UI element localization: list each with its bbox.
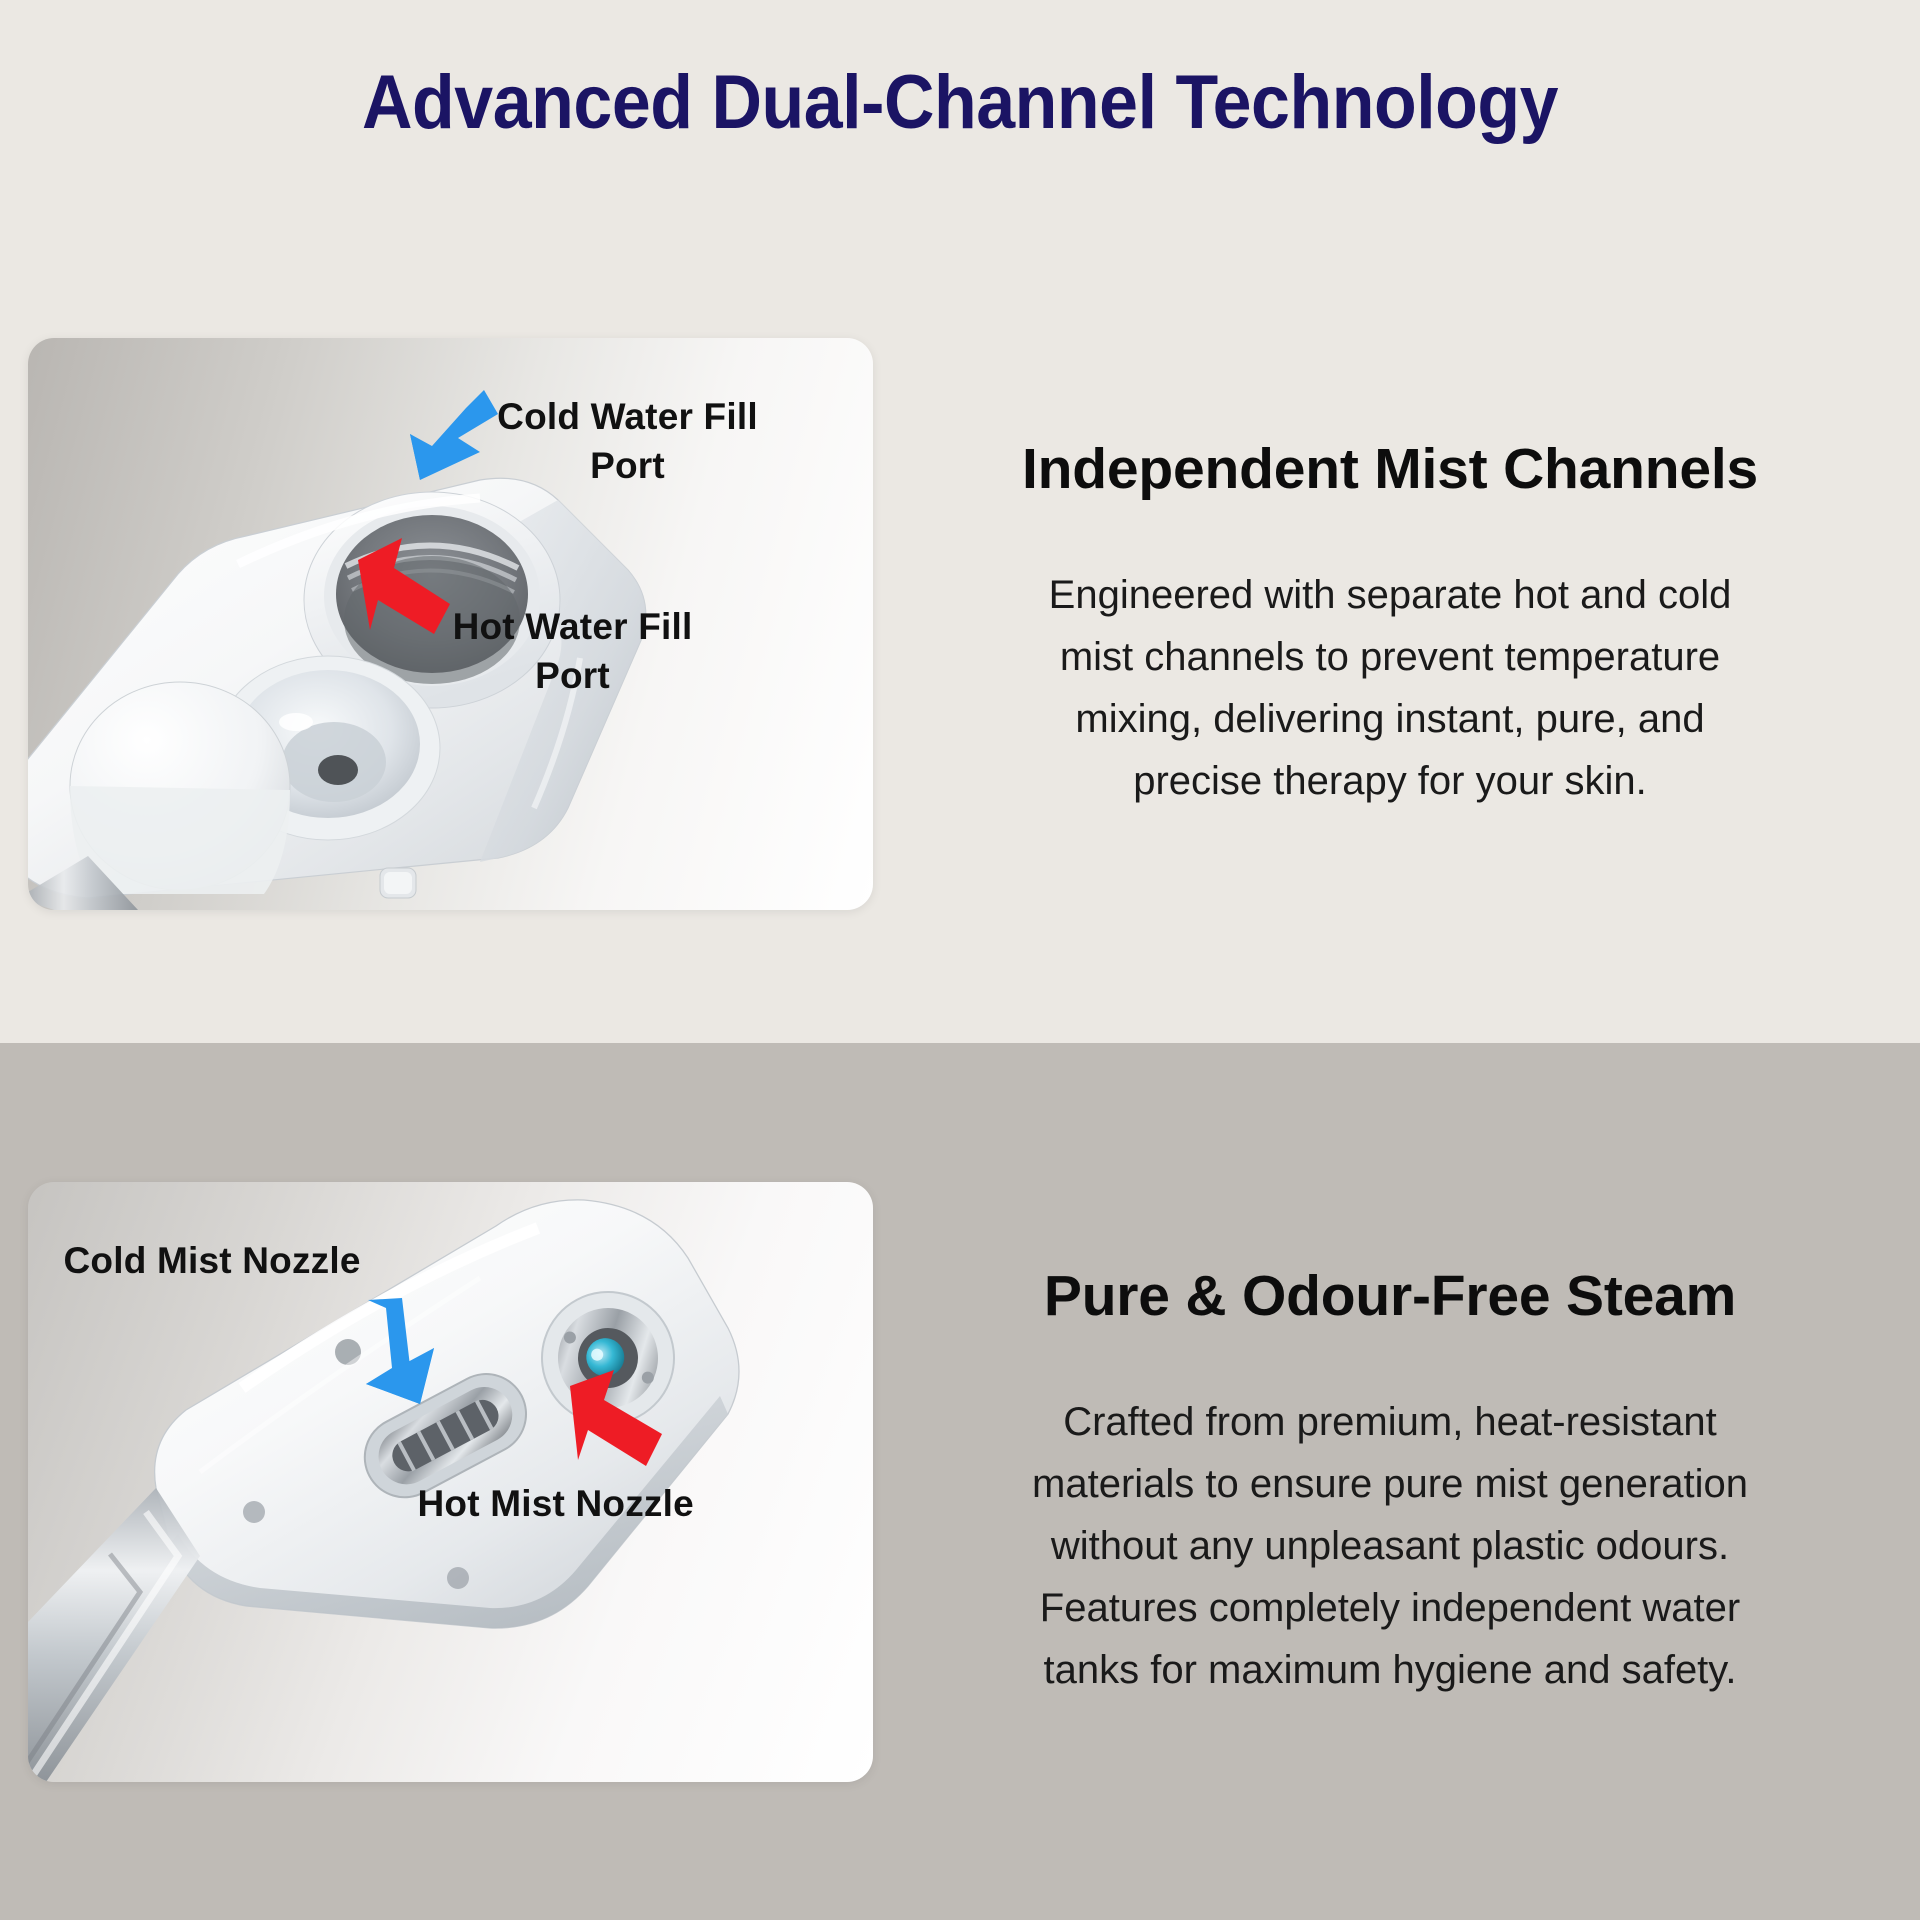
callout-hot-mist-nozzle: Hot Mist Nozzle [418, 1480, 748, 1529]
red-arrow-up-left-icon [556, 1368, 676, 1478]
feature-body-1: Engineered with separate hot and cold mi… [1030, 564, 1750, 812]
infographic-page: Advanced Dual-Channel Technology [0, 0, 1920, 1920]
photo-column-1: Cold Water Fill Port Hot Water Fill Port [0, 205, 900, 1043]
title-bar: Advanced Dual-Channel Technology [0, 0, 1920, 205]
feature-heading-1: Independent Mist Channels [1022, 436, 1758, 502]
text-column-1: Independent Mist Channels Engineered wit… [900, 205, 1920, 1043]
product-photo-steamer-wand-nozzles: Cold Mist Nozzle Hot Mist Nozzle [28, 1182, 873, 1782]
callout-cold-mist-nozzle: Cold Mist Nozzle [64, 1237, 394, 1286]
callout-hot-water-fill-port: Hot Water Fill Port [428, 603, 718, 701]
product-photo-steamer-top-fill-ports: Cold Water Fill Port Hot Water Fill Port [28, 338, 873, 910]
text-column-2: Pure & Odour-Free Steam Crafted from pre… [900, 1043, 1920, 1920]
page-title: Advanced Dual-Channel Technology [362, 59, 1558, 146]
feature-heading-2: Pure & Odour-Free Steam [1044, 1263, 1736, 1329]
blue-arrow-down-left-icon [380, 380, 500, 490]
blue-arrow-down-right-icon [350, 1292, 460, 1412]
photo-column-2: Cold Mist Nozzle Hot Mist Nozzle [0, 1043, 900, 1920]
feature-body-2: Crafted from premium, heat-resistant mat… [1010, 1391, 1770, 1701]
callout-cold-water-fill-port: Cold Water Fill Port [483, 393, 773, 491]
feature-section-independent-mist-channels: Cold Water Fill Port Hot Water Fill Port… [0, 205, 1920, 1043]
feature-section-pure-odour-free-steam: Cold Mist Nozzle Hot Mist Nozzle Pure & … [0, 1043, 1920, 1920]
